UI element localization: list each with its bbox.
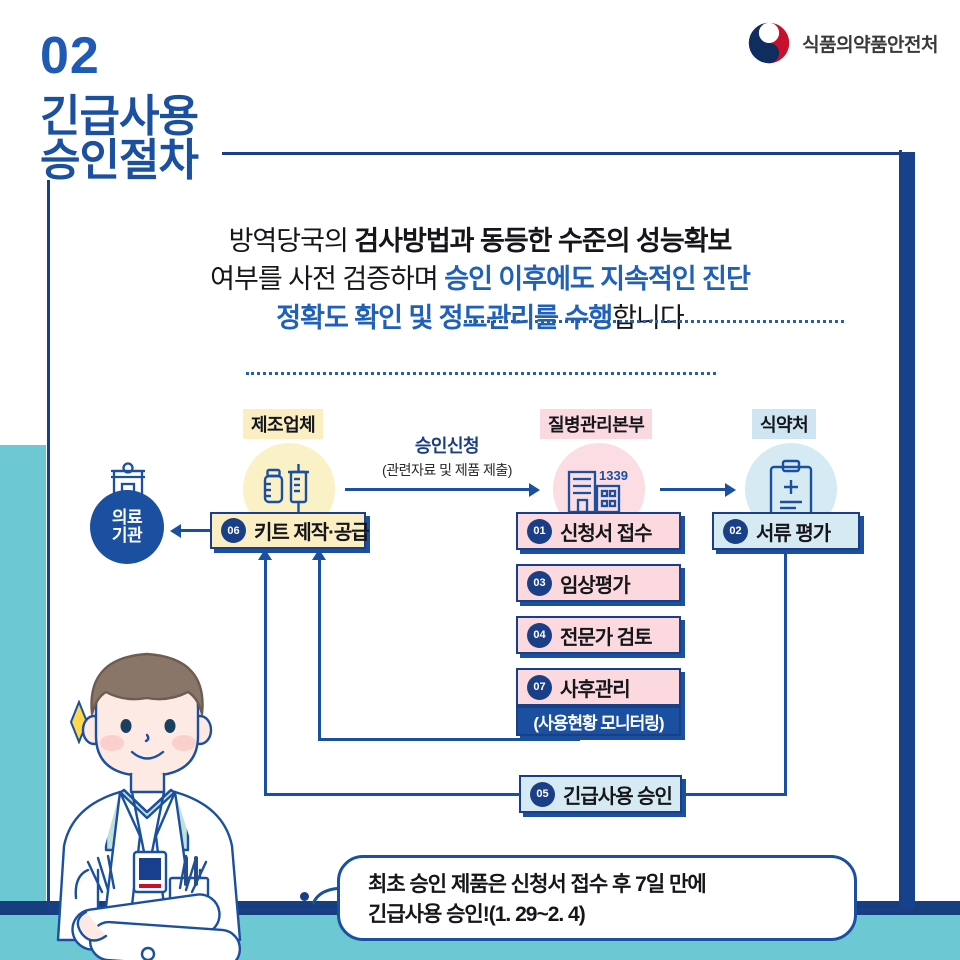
step-label-01: 신청서 접수 (560, 517, 652, 546)
approval-request-label: 승인신청 (관련자료 및 제품 제출) (352, 432, 542, 480)
step-sublabel-07: (사용현황 모니터링) (516, 706, 681, 736)
approval-request-title: 승인신청 (352, 432, 542, 458)
svg-text:1339: 1339 (599, 468, 628, 483)
step-box-02[interactable]: 02 서류 평가 (712, 512, 860, 550)
column-header-mfds: 식약처 (752, 409, 816, 439)
column-header-kcdc: 질병관리본부 (540, 409, 652, 439)
lead-3-plain: 합니다 (612, 303, 684, 333)
arrow-right-kcdc (529, 483, 540, 497)
step-number-07: 07 (527, 675, 552, 700)
hospital-building-1339-icon: 1339 (565, 460, 633, 518)
medical-institution-line1: 의료 (112, 509, 142, 527)
arrow-up-kit-2 (312, 549, 326, 560)
lead-3-blue: 정확도 확인 및 정도관리를 수행 (276, 303, 612, 333)
lead-2-plain: 여부를 사전 검증하며 (210, 264, 444, 294)
medical-institution-node: 의료 기관 (90, 490, 164, 564)
step-box-07[interactable]: 07 사후관리 (516, 668, 681, 706)
lead-1-plain: 방역당국의 (229, 226, 355, 256)
connector-to-05-right (682, 793, 787, 796)
infographic-page: 02 긴급사용 승인절차 식품의약품안전처 방역당국의 검사방법과 동등한 수준… (0, 0, 960, 960)
taegeuk-icon (746, 20, 792, 66)
connector-maker-to-kcdc (345, 488, 530, 491)
lead-line-2: 여부를 사전 검증하며 승인 이후에도 지속적인 진단 (0, 260, 960, 298)
medical-institution-line2: 기관 (112, 527, 142, 545)
step-box-04[interactable]: 04 전문가 검토 (516, 616, 681, 654)
callout-bubble: 최초 승인 제품은 신청서 접수 후 7일 만에 긴급사용 승인!(1. 29~… (337, 855, 857, 941)
dotted-underline-2 (246, 372, 716, 375)
step-label-07: 사후관리 (560, 673, 630, 702)
arrow-up-kit-1 (258, 549, 272, 560)
step-box-06[interactable]: 06 키트 제작·공급 (210, 512, 366, 549)
page-title: 긴급사용 승인절차 (40, 95, 198, 183)
step-label-06: 키트 제작·공급 (254, 516, 369, 545)
lead-1-bold: 검사방법과 동등한 수준의 성능확보 (354, 226, 731, 256)
step-label-04: 전문가 검토 (560, 621, 652, 650)
connector-07-to-left (318, 738, 580, 741)
step-box-01[interactable]: 01 신청서 접수 (516, 512, 681, 550)
step-box-03[interactable]: 03 임상평가 (516, 564, 681, 602)
connector-07-up (318, 560, 321, 741)
step-number-06: 06 (221, 518, 246, 543)
step-label-05: 긴급사용 승인 (563, 780, 672, 809)
step-number-04: 04 (527, 623, 552, 648)
callout-line-2: 긴급사용 승인!(1. 29~2. 4) (368, 900, 854, 930)
agency-name: 식품의약품안전처 (802, 30, 938, 57)
column-header-maker: 제조업체 (243, 409, 323, 439)
step-box-05[interactable]: 05 긴급사용 승인 (519, 775, 682, 813)
step-number-03: 03 (527, 571, 552, 596)
page-title-line1: 긴급사용 (40, 95, 198, 139)
step-number-05: 05 (530, 782, 555, 807)
callout-line-1: 최초 승인 제품은 신청서 접수 후 7일 만에 (368, 870, 854, 900)
connector-kcdc-to-mfds (660, 488, 726, 491)
arrow-left-medical (170, 524, 181, 538)
agency-logo: 식품의약품안전처 (746, 20, 938, 66)
approval-request-subtitle: (관련자료 및 제품 제출) (352, 460, 542, 480)
section-number: 02 (40, 30, 100, 82)
frame-border-top (222, 152, 902, 155)
lead-2-blue: 승인 이후에도 지속적인 진단 (444, 264, 750, 294)
doctor-illustration (28, 640, 318, 960)
step-number-01: 01 (527, 519, 552, 544)
step-label-02: 서류 평가 (756, 517, 830, 546)
page-title-line2: 승인절차 (40, 139, 198, 183)
lead-line-3: 정확도 확인 및 정도관리를 수행합니다 (0, 299, 960, 337)
step-number-02: 02 (723, 519, 748, 544)
lead-line-1: 방역당국의 검사방법과 동등한 수준의 성능확보 (0, 222, 960, 260)
step-label-03: 임상평가 (560, 569, 630, 598)
clipboard-medical-icon (764, 459, 818, 519)
dotted-underline-1 (464, 320, 844, 323)
vaccine-vial-syringe-icon (258, 460, 320, 518)
connector-02-down (784, 550, 787, 794)
arrow-right-mfds (725, 483, 736, 497)
